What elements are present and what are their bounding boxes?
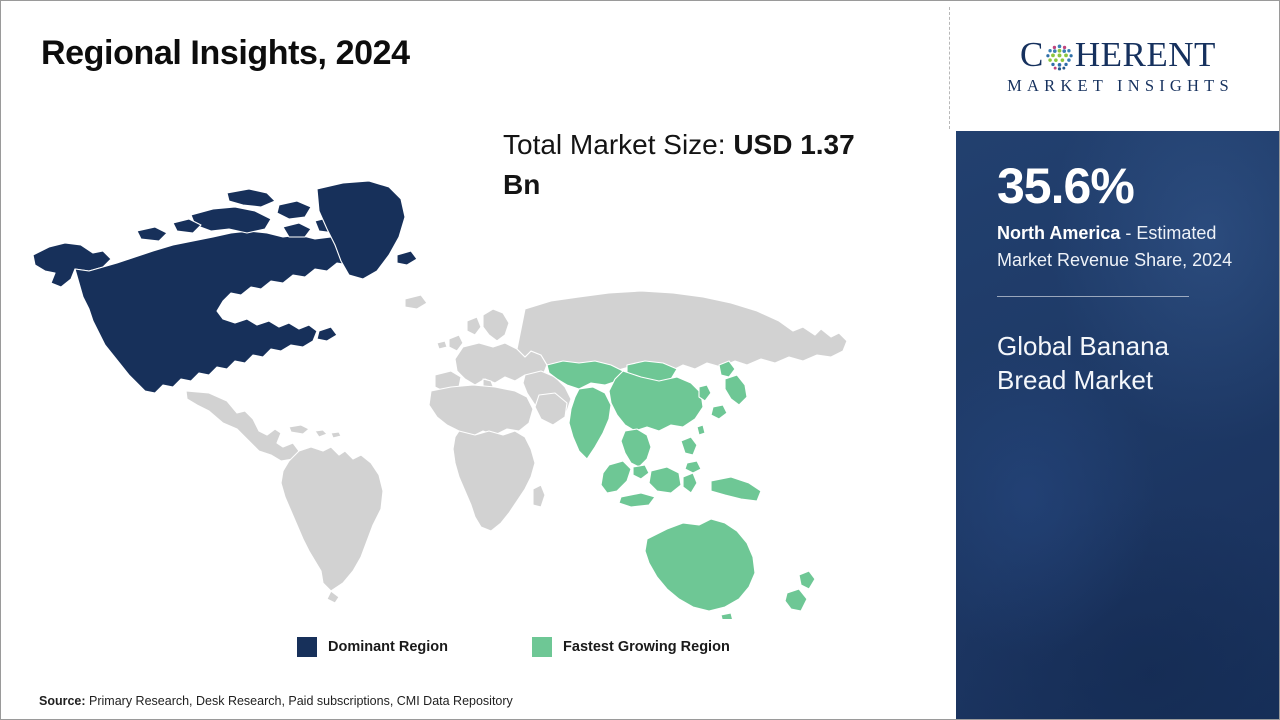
stat-divider-rule	[997, 296, 1189, 297]
world-map	[31, 179, 911, 619]
stat-caption: North America - Estimated Market Revenue…	[997, 220, 1240, 275]
logo-wordmark: C	[1020, 37, 1216, 72]
source-label: Source:	[39, 694, 86, 708]
dotted-globe-icon	[1045, 42, 1074, 71]
source-note: Source: Primary Research, Desk Research,…	[39, 694, 513, 708]
square-swatch-icon	[532, 637, 552, 657]
stat-value: 35.6%	[997, 160, 1240, 212]
stat-panel-content: 35.6% North America - Estimated Market R…	[956, 131, 1280, 398]
square-swatch-icon	[297, 637, 317, 657]
left-content-pane: Regional Insights, 2024 Total Market Siz…	[1, 1, 948, 719]
legend-item-fastest-growing-region: Fastest Growing Region	[532, 637, 730, 657]
world-map-svg	[31, 179, 911, 619]
regional-insights-infographic: Regional Insights, 2024 Total Market Siz…	[0, 0, 1280, 720]
brand-logo: C	[956, 1, 1280, 131]
vertical-dashed-divider	[949, 7, 950, 129]
logo-letter-c: C	[1020, 37, 1044, 72]
map-legend: Dominant Region Fastest Growing Region	[297, 637, 730, 657]
legend-item-dominant-region: Dominant Region	[297, 637, 448, 657]
legend-label-dominant-region: Dominant Region	[328, 639, 448, 655]
stat-region-name: North America	[997, 223, 1120, 243]
stat-panel: 35.6% North America - Estimated Market R…	[956, 131, 1280, 719]
legend-label-fastest-growing-region: Fastest Growing Region	[563, 639, 730, 655]
map-region-asia-pacific	[547, 361, 815, 619]
market-name: Global Banana Bread Market	[997, 329, 1240, 398]
logo-letters-herent: HERENT	[1075, 37, 1216, 72]
logo-subtitle: MARKET INSIGHTS	[1002, 76, 1234, 96]
total-market-size-label: Total Market Size:	[503, 129, 726, 160]
map-region-north-america	[33, 181, 417, 393]
right-sidebar-pane: C	[956, 1, 1280, 719]
source-text: Primary Research, Desk Research, Paid su…	[89, 694, 513, 708]
page-title: Regional Insights, 2024	[41, 34, 410, 73]
